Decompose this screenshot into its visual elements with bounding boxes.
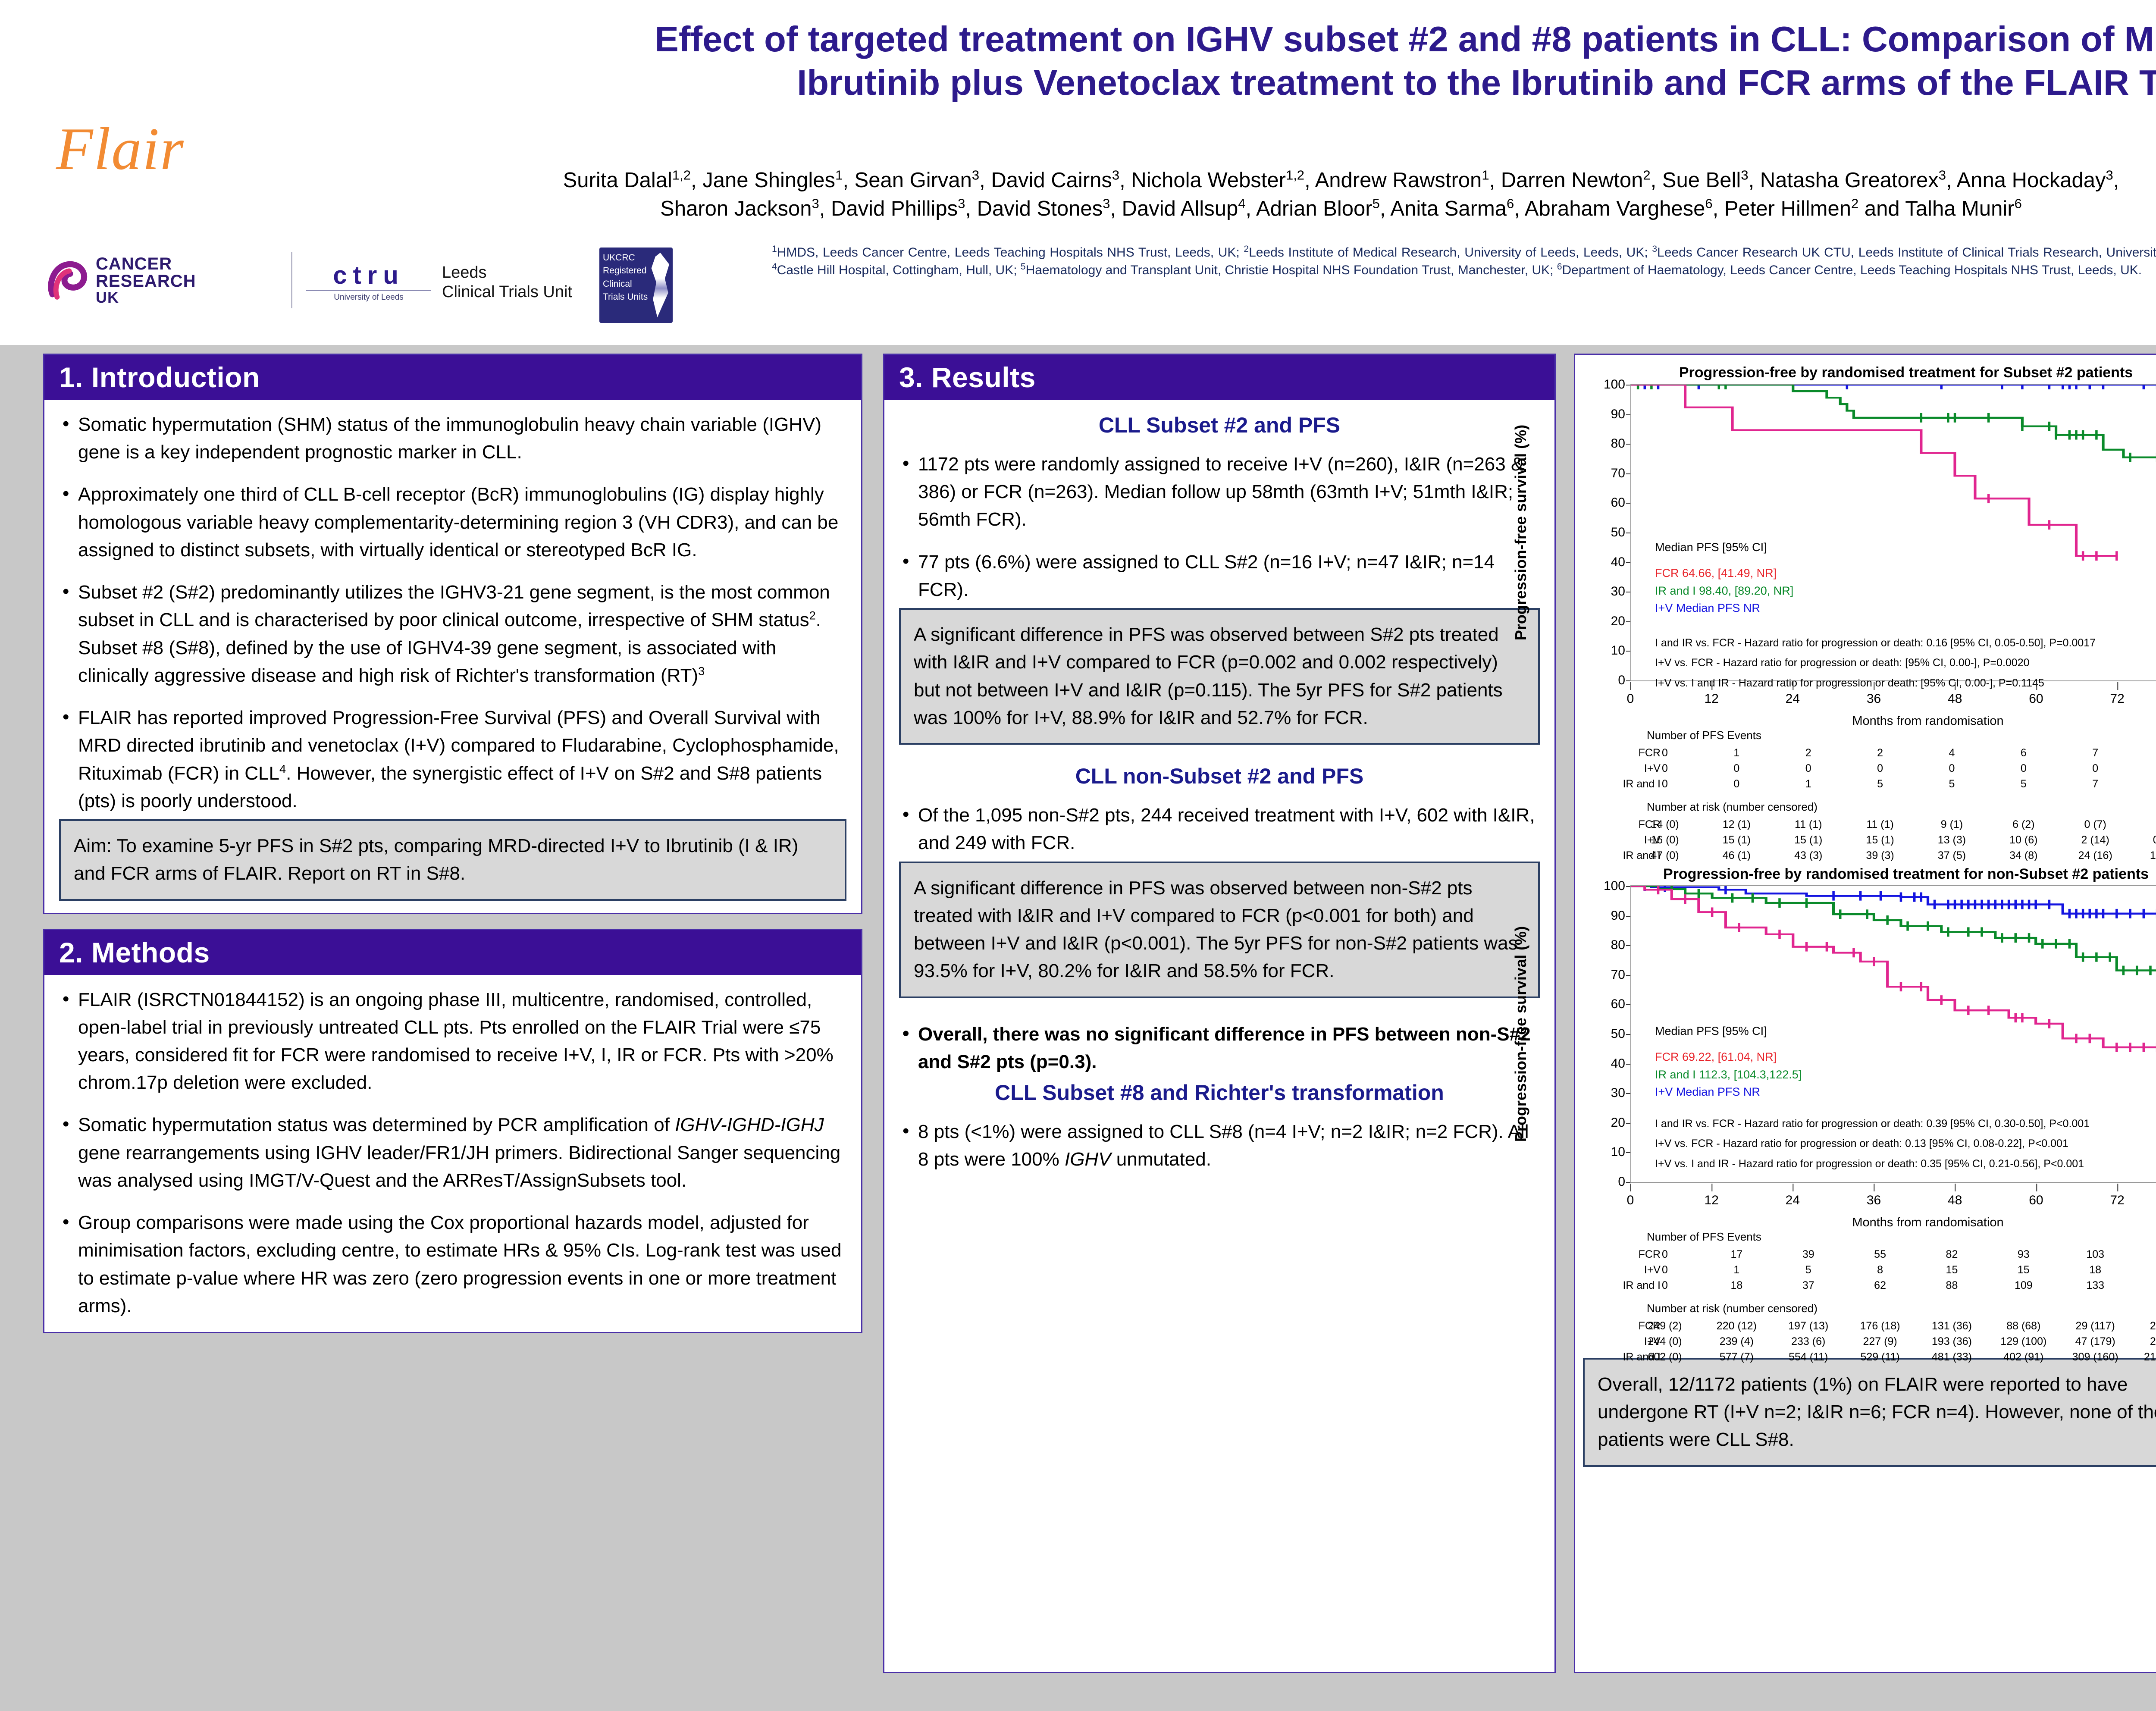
- x-axis-tick: 24: [1786, 1193, 1800, 1208]
- risk-cell: 0: [1733, 778, 1739, 790]
- list-item: 1172 pts were randomly assigned to recei…: [899, 451, 1540, 534]
- y-axis-label: Progression-free survival (%): [1512, 425, 1530, 640]
- aim-box: Aim: To examine 5-yr PFS in S#2 pts, com…: [59, 819, 846, 900]
- y-axis-tick: 20: [1611, 614, 1631, 629]
- risk-cell: 602 (0): [1648, 1351, 1682, 1363]
- x-axis-tick: 60: [2029, 1193, 2043, 1208]
- risk-cell: 6 (2): [2012, 818, 2034, 831]
- chart-legend: Median PFS [95% CI]FCR 64.66, [41.49, NR…: [1655, 539, 1793, 617]
- risk-cell: 0: [1662, 1264, 1668, 1276]
- risk-row-label: IR and I: [1600, 778, 1661, 790]
- y-axis-tick: 70: [1611, 968, 1631, 982]
- risk-cell: 17: [1730, 1248, 1742, 1261]
- risk-cell: 5: [1949, 778, 1955, 790]
- legend-entry: IR and I 112.3, [104.3,122.5]: [1655, 1066, 1802, 1084]
- x-axis-tick: 72: [2110, 692, 2124, 706]
- risk-cell: 9 (1): [1941, 818, 1963, 831]
- hazard-annotation: I+V vs. I and IR - Hazard ratio for prog…: [1655, 673, 2096, 693]
- risk-cell: 82: [1946, 1248, 1958, 1261]
- at-risk-header: Number at risk (number censored): [1647, 1302, 1818, 1315]
- risk-cell: 15 (1): [1866, 834, 1894, 846]
- risk-cell: 129 (100): [2000, 1335, 2046, 1348]
- cruk-wordmark: CANCER RESEARCH UK: [96, 255, 196, 305]
- risk-cell: 15 (1): [1794, 834, 1822, 846]
- chart-km-subset2: Progression-free by randomised treatment…: [1583, 364, 2156, 858]
- risk-cell: 244 (0): [1648, 1335, 1682, 1348]
- risk-cell: 16 (22): [2150, 849, 2156, 862]
- risk-cell: 4: [1949, 747, 1955, 759]
- risk-cell: 133: [2086, 1279, 2104, 1292]
- y-axis-tick: 100: [1604, 879, 1631, 893]
- y-axis-tick: 70: [1611, 466, 1631, 481]
- hazard-annotation: I+V vs. FCR - Hazard ratio for progressi…: [1655, 1134, 2090, 1153]
- results-bullets-subset8: 8 pts (<1%) were assigned to CLL S#8 (n=…: [899, 1118, 1540, 1173]
- ukcrc-map-icon: [649, 253, 669, 317]
- y-axis-tick: 20: [1611, 1116, 1631, 1130]
- y-axis-tick: 10: [1611, 643, 1631, 658]
- risk-cell: 37: [1802, 1279, 1814, 1292]
- methods-body: FLAIR (ISRCTN01844152) is an ongoing pha…: [44, 975, 861, 1332]
- list-item: Approximately one third of CLL B-cell re…: [59, 481, 846, 564]
- x-axis-tick: 48: [1948, 692, 1962, 706]
- risk-cell: 18: [1730, 1279, 1742, 1292]
- risk-cell: 481 (33): [1932, 1351, 1972, 1363]
- x-axis-tick: 0: [1627, 692, 1634, 706]
- x-axis-label: Months from randomisation: [1852, 714, 2003, 728]
- risk-cell: 0: [1662, 1248, 1668, 1261]
- ctru-subtext: University of Leeds: [306, 290, 431, 302]
- risk-cell: 0 (16): [2153, 834, 2156, 846]
- y-axis-tick: 10: [1611, 1145, 1631, 1159]
- risk-cell: 0: [1662, 778, 1668, 790]
- risk-cell: 39 (3): [1866, 849, 1894, 862]
- x-axis-tick: 36: [1867, 1193, 1881, 1208]
- hazard-annotation: I+V vs. FCR - Hazard ratio for progressi…: [1655, 653, 2096, 673]
- y-axis-tick: 90: [1611, 909, 1631, 923]
- x-axis-tick: 72: [2110, 1193, 2124, 1208]
- risk-cell: 220 (12): [1717, 1320, 1757, 1332]
- list-item: FLAIR has reported improved Progression-…: [59, 704, 846, 815]
- introduction-bullets: Somatic hypermutation (SHM) status of th…: [59, 411, 846, 815]
- risk-cell: 2: [1805, 747, 1811, 759]
- risk-cell: 15 (1): [1723, 834, 1751, 846]
- x-axis-tick: 48: [1948, 1193, 1962, 1208]
- page-title: Effect of targeted treatment on IGHV sub…: [319, 17, 2156, 105]
- y-axis-tick: 80: [1611, 938, 1631, 953]
- results-panel: 3. Results CLL Subset #2 and PFS 1172 pt…: [883, 354, 1556, 1673]
- risk-cell: 0 (7): [2084, 818, 2106, 831]
- risk-cell: 47 (0): [1651, 849, 1679, 862]
- risk-cell: 8: [1877, 1264, 1883, 1276]
- risk-cell: 0: [1805, 762, 1811, 775]
- risk-cell: 109: [2015, 1279, 2033, 1292]
- methods-bullets: FLAIR (ISRCTN01844152) is an ongoing pha…: [59, 986, 846, 1320]
- risk-cell: 7: [2092, 778, 2098, 790]
- legend-entry: I+V Median PFS NR: [1655, 1083, 1802, 1101]
- chart-hazard-annotations: I and IR vs. FCR - Hazard ratio for prog…: [1655, 1114, 2090, 1174]
- risk-row-label: I+V: [1600, 762, 1661, 775]
- column-left: 1. Introduction Somatic hypermutation (S…: [43, 354, 862, 1333]
- x-axis-label: Months from randomisation: [1852, 1216, 2003, 1230]
- risk-cell: 88: [1946, 1279, 1958, 1292]
- y-axis-tick: 0: [1618, 673, 1631, 688]
- risk-cell: 577 (7): [1720, 1351, 1754, 1363]
- chart-legend: Median PFS [95% CI]FCR 69.22, [61.04, NR…: [1655, 1022, 1802, 1101]
- risk-cell: 88 (68): [2006, 1320, 2040, 1332]
- hazard-annotation: I and IR vs. FCR - Hazard ratio for prog…: [1655, 1114, 2090, 1134]
- risk-table-subset2: Number of PFS EventsFCR0122467I+V0000000…: [1600, 729, 2156, 858]
- chart-title: Progression-free by randomised treatment…: [1583, 866, 2156, 883]
- author-line-2: Sharon Jackson3, David Phillips3, David …: [388, 194, 2156, 223]
- author-line-1: Surita Dalal1,2, Jane Shingles1, Sean Gi…: [388, 166, 2156, 194]
- results-body: CLL Subset #2 and PFS 1172 pts were rand…: [884, 400, 1554, 1185]
- risk-row-label: I+V: [1600, 1264, 1661, 1276]
- risk-cell: 5: [1805, 1264, 1811, 1276]
- risk-cell: 5: [2021, 778, 2027, 790]
- x-axis-tick: 60: [2029, 692, 2043, 706]
- introduction-panel: 1. Introduction Somatic hypermutation (S…: [43, 354, 862, 914]
- leeds-ctu-line-1: Leeds: [442, 263, 572, 282]
- legend-entry: I+V Median PFS NR: [1655, 599, 1793, 617]
- risk-cell: 193 (36): [1932, 1335, 1972, 1348]
- risk-cell: 2 (224): [2150, 1335, 2156, 1348]
- risk-cell: 12 (1): [1723, 818, 1751, 831]
- risk-cell: 2 (143): [2150, 1320, 2156, 1332]
- risk-cell: 233 (6): [1791, 1335, 1825, 1348]
- risk-cell: 62: [1874, 1279, 1886, 1292]
- list-item: FLAIR (ISRCTN01844152) is an ongoing pha…: [59, 986, 846, 1097]
- y-axis-tick: 100: [1604, 377, 1631, 392]
- risk-cell: 0: [1949, 762, 1955, 775]
- y-axis-tick: 80: [1611, 436, 1631, 451]
- charts-panel: Progression-free by randomised treatment…: [1574, 354, 2156, 1673]
- y-axis-tick: 30: [1611, 1086, 1631, 1100]
- risk-cell: 0: [2092, 762, 2098, 775]
- logo-strip: CANCER RESEARCH UK ctru University of Le…: [43, 241, 768, 328]
- at-risk-header: Number at risk (number censored): [1647, 800, 1818, 814]
- subhead-non-subset2-pfs: CLL non-Subset #2 and PFS: [899, 764, 1540, 789]
- list-item: 77 pts (6.6%) were assigned to CLL S#2 (…: [899, 548, 1540, 604]
- risk-cell: 37 (5): [1938, 849, 1966, 862]
- risk-cell: 0: [2021, 762, 2027, 775]
- subhead-subset2-pfs: CLL Subset #2 and PFS: [899, 413, 1540, 438]
- column-results-text: 3. Results CLL Subset #2 and PFS 1172 pt…: [883, 354, 1556, 1673]
- methods-panel: 2. Methods FLAIR (ISRCTN01844152) is an …: [43, 929, 862, 1334]
- richter-transformation-box: Overall, 12/1172 patients (1%) on FLAIR …: [1583, 1358, 2156, 1467]
- risk-cell: 1: [1805, 778, 1811, 790]
- ctru-wordmark: ctru: [306, 261, 431, 290]
- risk-cell: 2 (14): [2081, 834, 2109, 846]
- results-overall-bullet: Overall, there was no significant differ…: [899, 1021, 1540, 1076]
- chart-hazard-annotations: I and IR vs. FCR - Hazard ratio for prog…: [1655, 633, 2096, 693]
- y-axis-tick: 50: [1611, 525, 1631, 540]
- ukcrc-registered-logo: UKCRCRegisteredClinicalTrials Units: [599, 248, 673, 323]
- risk-row-label: IR and I: [1600, 1279, 1661, 1292]
- title-line-2: Ibrutinib plus Venetoclax treatment to t…: [319, 61, 2156, 104]
- cruk-line-2: RESEARCH: [96, 272, 196, 291]
- results-bullets-subset2: 1172 pts were randomly assigned to recei…: [899, 451, 1540, 604]
- risk-cell: 1: [1733, 747, 1739, 759]
- author-list: Surita Dalal1,2, Jane Shingles1, Sean Gi…: [388, 166, 2156, 223]
- risk-cell: 29 (117): [2076, 1320, 2115, 1332]
- risk-cell: 18: [2089, 1264, 2101, 1276]
- introduction-body: Somatic hypermutation (SHM) status of th…: [44, 400, 861, 913]
- y-axis-tick: 60: [1611, 997, 1631, 1012]
- risk-cell: 34 (8): [2009, 849, 2037, 862]
- risk-cell: 176 (18): [1860, 1320, 1900, 1332]
- list-item: 8 pts (<1%) were assigned to CLL S#8 (n=…: [899, 1118, 1540, 1173]
- y-axis-tick: 0: [1618, 1175, 1631, 1189]
- risk-row-label: FCR: [1600, 1248, 1661, 1261]
- column-charts: Progression-free by randomised treatment…: [1574, 354, 2156, 1673]
- legend-entry: FCR 64.66, [41.49, NR]: [1655, 564, 1793, 582]
- risk-cell: 402 (91): [2003, 1351, 2043, 1363]
- plot-area: Progression-free survival (%) Median PFS…: [1630, 885, 2156, 1183]
- affiliations: 1HMDS, Leeds Cancer Centre, Leeds Teachi…: [772, 244, 2156, 279]
- risk-cell: 10 (6): [2009, 834, 2037, 846]
- poster-canvas: 1437 Flair Effect of targeted treatment …: [0, 0, 2156, 1711]
- risk-cell: 5: [1877, 778, 1883, 790]
- risk-cell: 0: [1662, 762, 1668, 775]
- risk-cell: 15: [1946, 1264, 1958, 1276]
- legend-header: Median PFS [95% CI]: [1655, 539, 1793, 556]
- risk-cell: 46 (1): [1723, 849, 1751, 862]
- y-axis-tick: 40: [1611, 555, 1631, 570]
- results-bullets-non-subset2: Of the 1,095 non-S#2 pts, 244 received t…: [899, 802, 1540, 857]
- flair-logo: Flair: [56, 114, 185, 184]
- poster-header: 1437 Flair Effect of targeted treatment …: [0, 0, 2156, 345]
- risk-cell: 249 (2): [1648, 1320, 1682, 1332]
- y-axis-tick: 60: [1611, 495, 1631, 510]
- x-axis-tick: 24: [1786, 692, 1800, 706]
- risk-cell: 103: [2086, 1248, 2104, 1261]
- risk-cell: 11 (1): [1795, 818, 1822, 831]
- risk-cell: 554 (11): [1789, 1351, 1828, 1363]
- risk-cell: 0: [1662, 747, 1668, 759]
- risk-cell: 16 (0): [1651, 834, 1679, 846]
- risk-cell: 0: [1877, 762, 1883, 775]
- events-header: Number of PFS Events: [1647, 729, 1761, 742]
- risk-cell: 7: [2092, 747, 2098, 759]
- risk-cell: 11 (1): [1866, 818, 1893, 831]
- cruk-line-1: CANCER: [96, 254, 172, 273]
- cancer-research-uk-logo: CANCER RESEARCH UK: [43, 250, 285, 310]
- risk-cell: 213 (227): [2144, 1351, 2156, 1363]
- legend-header: Median PFS [95% CI]: [1655, 1022, 1802, 1040]
- results-box-subset2: A significant difference in PFS was obse…: [899, 608, 1540, 745]
- risk-cell: 239 (4): [1720, 1335, 1754, 1348]
- x-axis-tick: 36: [1867, 692, 1881, 706]
- chart-km-non-subset2: Progression-free by randomised treatment…: [1583, 866, 2156, 1355]
- risk-cell: 93: [2018, 1248, 2030, 1261]
- y-axis-tick: 30: [1611, 584, 1631, 599]
- cruk-ribbon-icon: [43, 257, 90, 304]
- risk-row-label: FCR: [1600, 747, 1661, 759]
- list-item: Somatic hypermutation status was determi…: [59, 1111, 846, 1194]
- legend-entry: FCR 69.22, [61.04, NR]: [1655, 1048, 1802, 1066]
- leeds-ctu-line-2: Clinical Trials Unit: [442, 282, 572, 302]
- risk-cell: 15: [2018, 1264, 2030, 1276]
- risk-cell: 0: [1733, 762, 1739, 775]
- list-item: Overall, there was no significant differ…: [899, 1021, 1540, 1076]
- list-item: Somatic hypermutation (SHM) status of th…: [59, 411, 846, 466]
- logo-divider: [291, 252, 292, 308]
- list-item: Group comparisons were made using the Co…: [59, 1209, 846, 1320]
- risk-table-non-subset2: Number of PFS EventsFCR01739558293103104…: [1600, 1230, 2156, 1355]
- results-box-non-subset2: A significant difference in PFS was obse…: [899, 862, 1540, 998]
- legend-entry: IR and I 98.40, [89.20, NR]: [1655, 582, 1793, 600]
- risk-cell: 14 (0): [1651, 818, 1679, 831]
- list-item: Of the 1,095 non-S#2 pts, 244 received t…: [899, 802, 1540, 857]
- risk-cell: 1: [1733, 1264, 1739, 1276]
- y-axis-tick: 40: [1611, 1056, 1631, 1071]
- cruk-line-3: UK: [96, 290, 196, 305]
- leeds-ctu-logo: Leeds Clinical Trials Unit: [442, 263, 572, 302]
- x-axis-tick: 12: [1704, 692, 1718, 706]
- results-heading: 3. Results: [884, 355, 1554, 400]
- introduction-heading: 1. Introduction: [44, 355, 861, 400]
- risk-cell: 0: [1662, 1279, 1668, 1292]
- risk-cell: 24 (16): [2078, 849, 2112, 862]
- y-axis-label: Progression-free survival (%): [1512, 926, 1530, 1142]
- hazard-annotation: I+V vs. I and IR - Hazard ratio for prog…: [1655, 1154, 2090, 1174]
- y-axis-tick: 90: [1611, 407, 1631, 422]
- hazard-annotation: I and IR vs. FCR - Hazard ratio for prog…: [1655, 633, 2096, 653]
- risk-cell: 39: [1802, 1248, 1814, 1261]
- risk-cell: 2: [1877, 747, 1883, 759]
- risk-cell: 309 (160): [2072, 1351, 2118, 1363]
- ctru-logo: ctru University of Leeds: [306, 261, 431, 302]
- risk-cell: 529 (11): [1860, 1351, 1899, 1363]
- y-axis-tick: 50: [1611, 1027, 1631, 1041]
- risk-cell: 131 (36): [1932, 1320, 1972, 1332]
- x-axis-tick: 12: [1704, 1193, 1718, 1208]
- risk-cell: 43 (3): [1794, 849, 1822, 862]
- risk-cell: 55: [1874, 1248, 1886, 1261]
- charts-body: Progression-free by randomised treatment…: [1575, 355, 2156, 1479]
- risk-cell: 13 (3): [1938, 834, 1966, 846]
- title-line-1: Effect of targeted treatment on IGHV sub…: [319, 17, 2156, 61]
- risk-cell: 197 (13): [1788, 1320, 1828, 1332]
- risk-cell: 6: [2021, 747, 2027, 759]
- x-axis-tick: 0: [1627, 1193, 1634, 1208]
- methods-heading: 2. Methods: [44, 930, 861, 975]
- risk-cell: 227 (9): [1863, 1335, 1897, 1348]
- events-header: Number of PFS Events: [1647, 1230, 1761, 1244]
- risk-cell: 47 (179): [2075, 1335, 2115, 1348]
- plot-area: Progression-free survival (%) Median PFS…: [1630, 384, 2156, 681]
- chart-title: Progression-free by randomised treatment…: [1583, 364, 2156, 381]
- list-item: Subset #2 (S#2) predominantly utilizes t…: [59, 579, 846, 689]
- subhead-subset8-rt: CLL Subset #8 and Richter's transformati…: [899, 1080, 1540, 1105]
